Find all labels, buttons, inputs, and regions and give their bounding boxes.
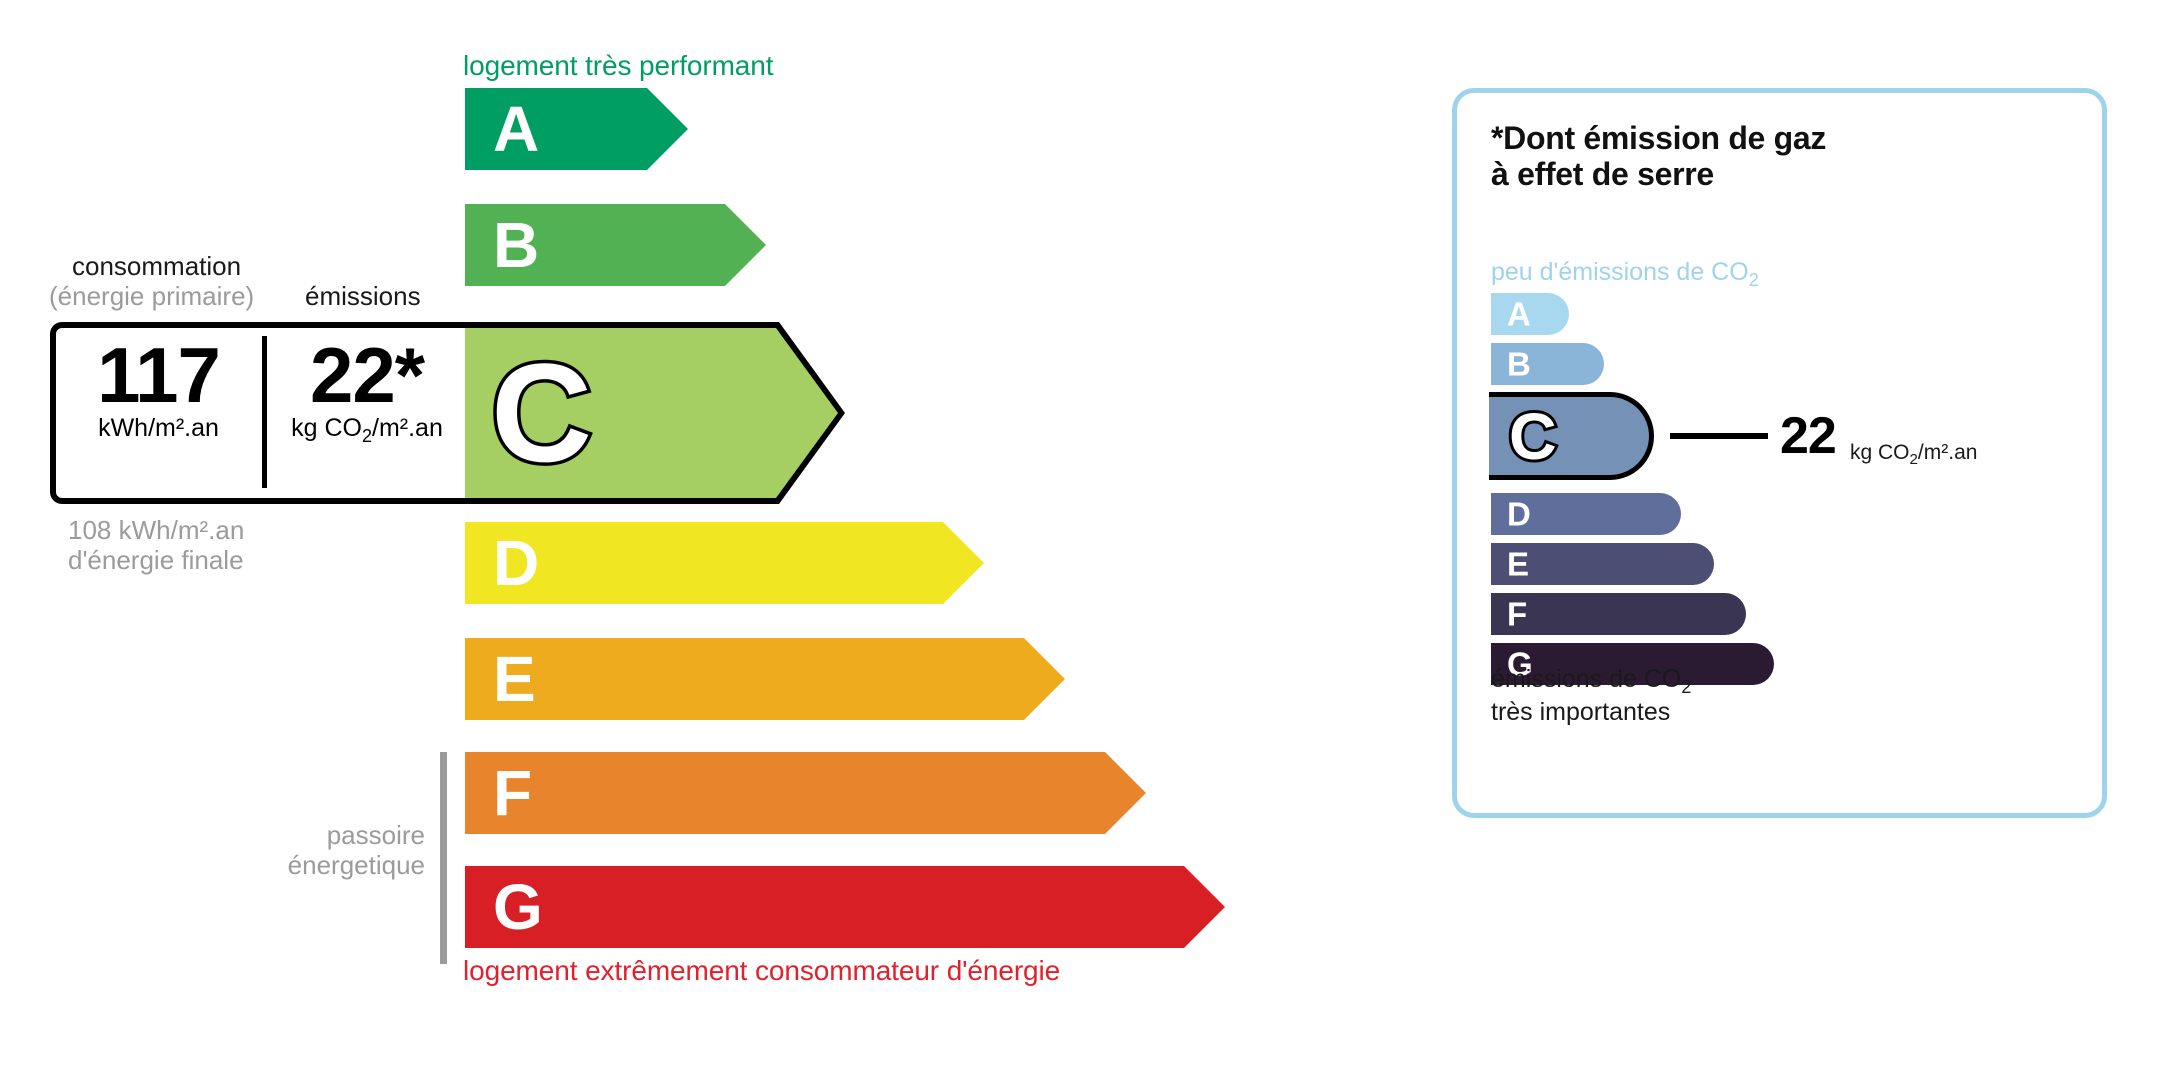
- final-energy-line2: d'énergie finale: [68, 545, 244, 575]
- passoire-bracket: [440, 752, 447, 964]
- energy-band-d: D: [465, 522, 984, 604]
- co2-bar-c-letter: C: [1509, 403, 1557, 469]
- passoire-energetique-label: passoire énergetique: [140, 820, 425, 880]
- co2-bar-b-letter: B: [1507, 348, 1531, 381]
- energy-band-c-letter: C: [491, 343, 592, 483]
- co2-bar-e: E: [1491, 543, 1714, 585]
- co2-bar-d-letter: D: [1507, 498, 1531, 531]
- energy-band-g-letter: G: [493, 875, 543, 939]
- energy-band-b-letter: B: [493, 213, 539, 277]
- co2-low-emissions-note: peu d'émissions de CO2: [1491, 258, 1759, 291]
- energy-band-b: B: [465, 204, 766, 286]
- energy-band-e: E: [465, 638, 1065, 720]
- co2-bar-f-letter: F: [1507, 598, 1527, 631]
- energy-band-f: F: [465, 752, 1146, 834]
- co2-title-line2: à effet de serre: [1491, 156, 1714, 192]
- consumption-label: consommation: [72, 251, 241, 282]
- co2-leader-line: [1670, 433, 1768, 439]
- bottom-caption-high-consumption: logement extrêmement consommateur d'éner…: [463, 955, 1060, 987]
- energy-band-f-shape: [465, 752, 1146, 834]
- energy-band-g: G: [465, 866, 1225, 948]
- co2-emissions-panel: *Dont émission de gaz à effet de serre p…: [1452, 88, 2107, 818]
- consumption-value: 117: [56, 336, 261, 416]
- energy-band-e-shape: [465, 638, 1065, 720]
- emissions-unit: kg CO2/m².an: [268, 414, 466, 447]
- passoire-line2: énergetique: [288, 850, 425, 880]
- co2-bottom-line1: émissions de CO2: [1491, 665, 1691, 693]
- co2-bar-a-letter: A: [1507, 298, 1531, 331]
- consumption-sublabel: (énergie primaire): [49, 281, 254, 312]
- emissions-value: 22*: [268, 336, 466, 416]
- co2-panel-title: *Dont émission de gaz à effet de serre: [1491, 121, 1826, 193]
- energy-band-d-letter: D: [493, 531, 539, 595]
- energy-band-f-letter: F: [493, 761, 532, 825]
- energy-band-a: A: [465, 88, 688, 170]
- energy-band-e-letter: E: [493, 647, 536, 711]
- emissions-value-cell: 22* kg CO2/m².an: [268, 336, 466, 447]
- consumption-value-cell: 117 kWh/m².an: [56, 336, 261, 443]
- energy-band-g-shape: [465, 866, 1225, 948]
- co2-bar-d: D: [1491, 493, 1681, 535]
- energy-band-d-shape: [465, 522, 984, 604]
- passoire-line1: passoire: [327, 820, 425, 850]
- co2-high-emissions-note: émissions de CO2 très importantes: [1491, 665, 1691, 727]
- co2-bar-e-letter: E: [1507, 548, 1529, 581]
- co2-bottom-line2: très importantes: [1491, 698, 1670, 726]
- final-energy-note: 108 kWh/m².an d'énergie finale: [68, 515, 244, 575]
- emissions-label: émissions: [305, 281, 421, 312]
- co2-value-unit: kg CO2/m².an: [1850, 442, 1977, 467]
- co2-bar-f: F: [1491, 593, 1746, 635]
- value-box-divider: [262, 336, 267, 488]
- energy-band-c-current: C: [465, 322, 845, 504]
- co2-title-line1: *Dont émission de gaz: [1491, 120, 1826, 156]
- co2-bar-a: A: [1491, 293, 1569, 335]
- consumption-unit: kWh/m².an: [56, 414, 261, 443]
- final-energy-line1: 108 kWh/m².an: [68, 515, 244, 545]
- energy-band-a-letter: A: [493, 97, 539, 161]
- co2-value: 22: [1780, 410, 1836, 462]
- top-caption-high-performance: logement très performant: [463, 50, 773, 82]
- co2-bar-b: B: [1491, 343, 1604, 385]
- co2-bar-c-current: C: [1489, 392, 1654, 480]
